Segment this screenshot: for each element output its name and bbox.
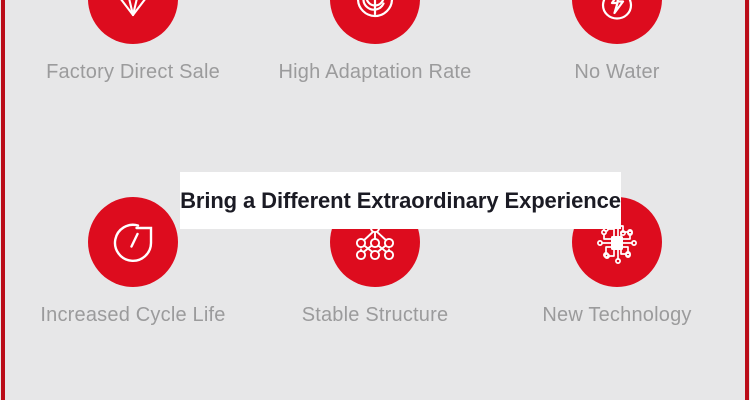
- feature-label: Factory Direct Sale: [13, 61, 253, 84]
- headline-text: Bring a Different Extraordinary Experien…: [180, 188, 621, 214]
- feature-label: Stable Structure: [255, 304, 495, 327]
- feature-icon-badge: [88, 197, 178, 287]
- feature-item-high-adaptation-rate: High Adaptation Rate: [255, 0, 495, 84]
- feature-label: High Adaptation Rate: [255, 61, 495, 84]
- feature-label: Increased Cycle Life: [13, 304, 253, 327]
- feature-label: New Technology: [497, 304, 737, 327]
- diamond-icon: [107, 0, 159, 25]
- target-icon: [349, 0, 401, 25]
- feature-label: No Water: [497, 61, 737, 84]
- feature-poster: Factory Direct Sale High Adaptation Rate: [0, 0, 750, 400]
- headline-banner: Bring a Different Extraordinary Experien…: [180, 172, 621, 229]
- feature-icon-badge: [88, 0, 178, 44]
- water-drop-bolt-icon: [591, 0, 643, 25]
- feature-item-factory-direct-sale: Factory Direct Sale: [13, 0, 253, 84]
- stopwatch-icon: [107, 216, 159, 268]
- feature-icon-badge: [330, 0, 420, 44]
- feature-icon-badge: [572, 0, 662, 44]
- feature-item-no-water: No Water: [497, 0, 737, 84]
